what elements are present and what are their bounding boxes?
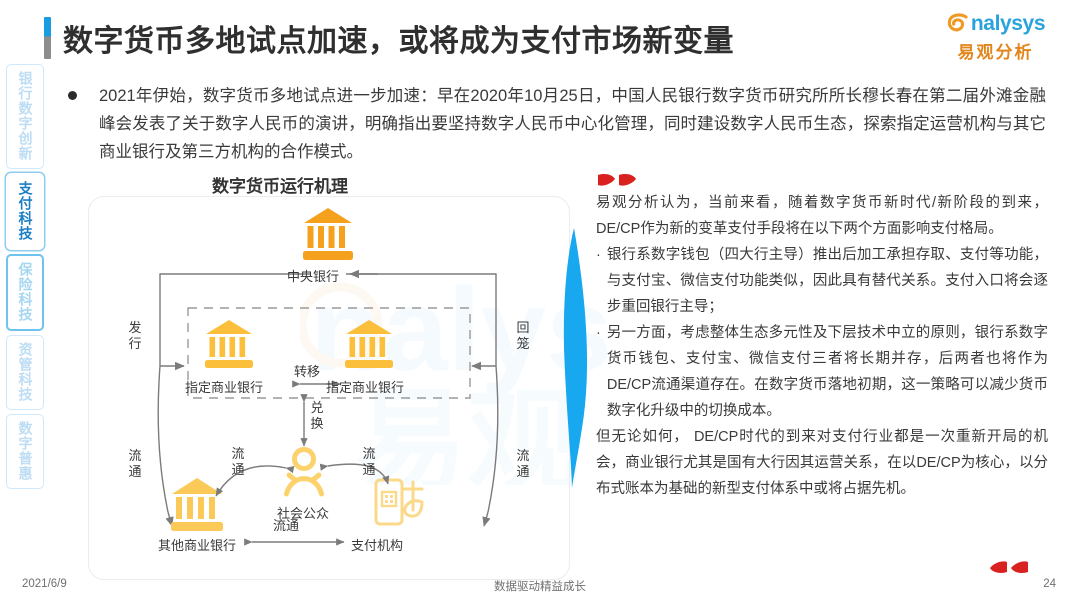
title-accent-bar (44, 17, 51, 59)
commentary-bullet-2: · 另一方面，考虑整体生态多元性及下层技术中立的原则，银行系数字货币钱包、支付宝… (596, 320, 1048, 424)
logo-chinese: 易观分析 (933, 38, 1058, 63)
right-commentary-panel: 易观分析认为，当前来看，随着数字货币新时代/新阶段的到来，DE/CP作为新的变革… (596, 190, 1048, 502)
sidebar-item-bank-digital-innovation[interactable]: 银行数字创新 (6, 64, 44, 169)
page-title: 数字货币多地试点加速，或将成为支付市场新变量 (44, 16, 734, 60)
intro-bullet: 2021年伊始，数字货币多地试点进一步加速：早在2020年10月25日，中国人民… (68, 82, 1046, 166)
intro-bullet-text: 2021年伊始，数字货币多地试点进一步加速：早在2020年10月25日，中国人民… (99, 82, 1046, 166)
sidebar: 银行数字创新 支付科技 保险科技 资管科技 数字普惠 (6, 64, 44, 493)
designated-bank-right-icon (345, 320, 393, 368)
payment-institution-icon (376, 480, 422, 524)
edge-label-issue: 发行 (128, 320, 142, 352)
designated-bank-left-icon (205, 320, 253, 368)
quote-open-icon (596, 171, 640, 191)
node-label-payment-org: 支付机构 (351, 535, 403, 554)
commentary-paragraph-2: 但无论如何， DE/CP时代的到来对支付行业都是一次重新开局的机会，商业银行尤其… (596, 424, 1048, 502)
sidebar-item-asset-management-tech[interactable]: 资管科技 (6, 335, 44, 410)
central-bank-icon (303, 208, 353, 260)
blue-swoosh-divider (552, 228, 602, 488)
sidebar-item-insurance-tech[interactable]: 保险科技 (6, 254, 44, 331)
node-label-designated-bank-right: 指定商业银行 (326, 377, 404, 396)
edge-label-circulate-right-inner: 流通 (362, 446, 376, 478)
footer-page-number: 24 (1043, 578, 1056, 590)
edge-label-circulate-right-outer: 流通 (516, 448, 530, 480)
node-label-designated-bank-left: 指定商业银行 (185, 377, 263, 396)
brand-logo: nalysys 易观分析 (933, 10, 1058, 63)
edge-label-withdraw: 回笼 (516, 320, 530, 352)
diagram-title: 数字货币运行机理 (0, 172, 560, 197)
commentary-bullet-1-text: 银行系数字钱包（四大行主导）推出后加工承担存取、支付等功能，与支付宝、微信支付功… (607, 242, 1048, 320)
node-label-central-bank: 中央银行 (287, 266, 339, 285)
commentary-bullet-2-text: 另一方面，考虑整体生态多元性及下层技术中立的原则，银行系数字货币钱包、支付宝、微… (607, 320, 1048, 424)
commentary-bullet-marker-2: · (596, 320, 601, 424)
sidebar-item-digital-inclusive-finance[interactable]: 数字普惠 (6, 414, 44, 489)
edge-label-circulate-left-inner: 流通 (231, 446, 245, 478)
diagram-canvas: 中央银行 指定商业银行 指定商业银行 社会公众 其他商业银行 支付机构 发行 回… (88, 196, 568, 578)
edge-label-exchange: 兑换 (310, 400, 324, 432)
commentary-paragraph-1: 易观分析认为，当前来看，随着数字货币新时代/新阶段的到来，DE/CP作为新的变革… (596, 190, 1048, 242)
public-person-icon (287, 450, 322, 495)
logo-wordmark: nalysys (971, 13, 1045, 34)
title-text: 数字货币多地试点加速，或将成为支付市场新变量 (63, 16, 734, 60)
commentary-bullet-marker: · (596, 242, 601, 320)
bullet-dot-icon (68, 91, 77, 100)
slide-root: nalys 易观 数字货币多地试点加速，或将成为支付市场新变量 nalysys … (0, 0, 1080, 608)
quote-close-icon (988, 556, 1032, 576)
analysys-swirl-icon (946, 11, 970, 35)
edge-label-circulate-bottom: 流通 (273, 518, 299, 534)
other-bank-icon (171, 478, 223, 531)
commentary-bullet-1: · 银行系数字钱包（四大行主导）推出后加工承担存取、支付等功能，与支付宝、微信支… (596, 242, 1048, 320)
footer-slogan: 数据驱动精益成长 (0, 578, 1080, 594)
node-label-other-bank: 其他商业银行 (158, 535, 236, 554)
edge-label-circulate-left-outer: 流通 (128, 448, 142, 480)
edge-label-transfer: 转移 (294, 364, 320, 380)
